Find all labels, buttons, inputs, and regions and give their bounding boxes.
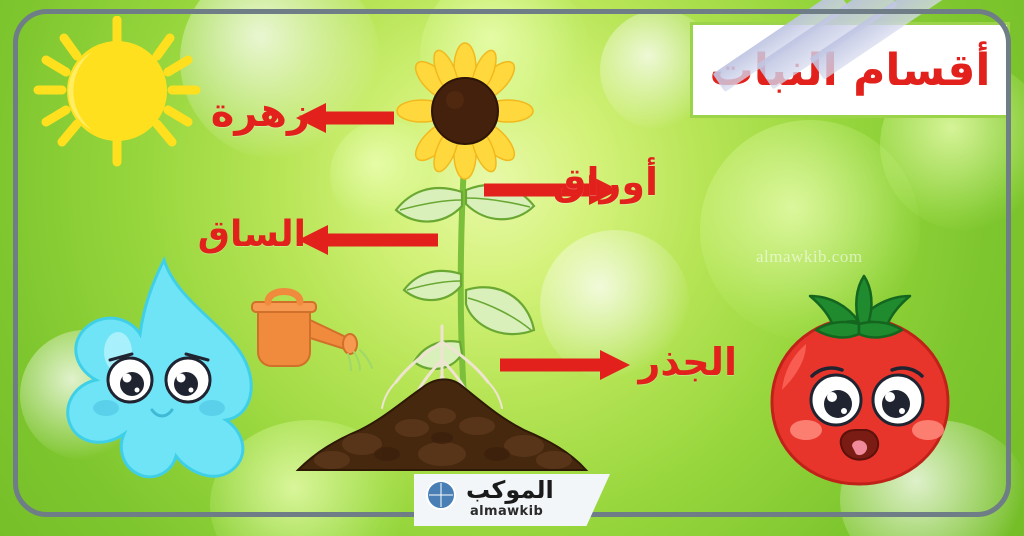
arrow-to-flower <box>296 105 394 131</box>
globe-icon <box>426 480 456 510</box>
infographic-canvas: almawkib.com زهرة أوراق الساق الجذر أقسا… <box>0 0 1024 536</box>
label-stem: الساق <box>198 214 306 255</box>
page-title: أقسام النبات <box>709 45 990 96</box>
label-root: الجذر <box>638 340 737 384</box>
label-flower: زهرة <box>211 90 310 136</box>
site-logo[interactable]: الموكب almawkib <box>414 474 610 526</box>
tomato-character <box>752 272 967 492</box>
logo-arabic-text: الموكب <box>466 476 554 504</box>
arrow-to-stem <box>298 227 438 253</box>
arrow-to-root <box>500 352 630 378</box>
logo-latin-text: almawkib <box>470 504 543 519</box>
water-drop-character <box>44 256 284 491</box>
sun-icon <box>22 16 212 181</box>
title-box: أقسام النبات <box>690 22 1010 118</box>
label-leaves: أوراق <box>552 160 658 204</box>
